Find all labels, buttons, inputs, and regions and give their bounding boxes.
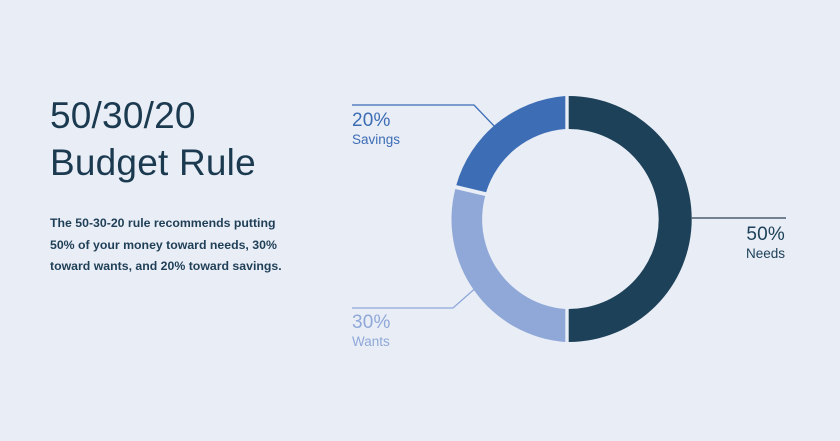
donut-chart-svg — [0, 0, 840, 441]
callout-wants[interactable]: 30% Wants — [352, 312, 391, 351]
callout-needs[interactable]: 50% Needs — [746, 224, 785, 263]
infographic-canvas: 50/30/20 Budget Rule The 50-30-20 rule r… — [0, 0, 840, 441]
callout-savings-label: Savings — [352, 131, 400, 149]
callout-savings-percent: 20% — [352, 110, 400, 131]
callout-needs-percent: 50% — [746, 224, 785, 245]
callout-savings[interactable]: 20% Savings — [352, 110, 400, 149]
donut-slice-savings[interactable] — [456, 96, 565, 192]
leader-line-wants — [352, 285, 479, 308]
callout-needs-label: Needs — [746, 245, 785, 263]
donut-slice-wants[interactable] — [451, 189, 565, 342]
callout-wants-label: Wants — [352, 333, 391, 351]
donut-slice-needs[interactable] — [569, 96, 692, 342]
callout-wants-percent: 30% — [352, 312, 391, 333]
donut-chart: 50% Needs 20% Savings 30% Wants — [0, 0, 840, 441]
